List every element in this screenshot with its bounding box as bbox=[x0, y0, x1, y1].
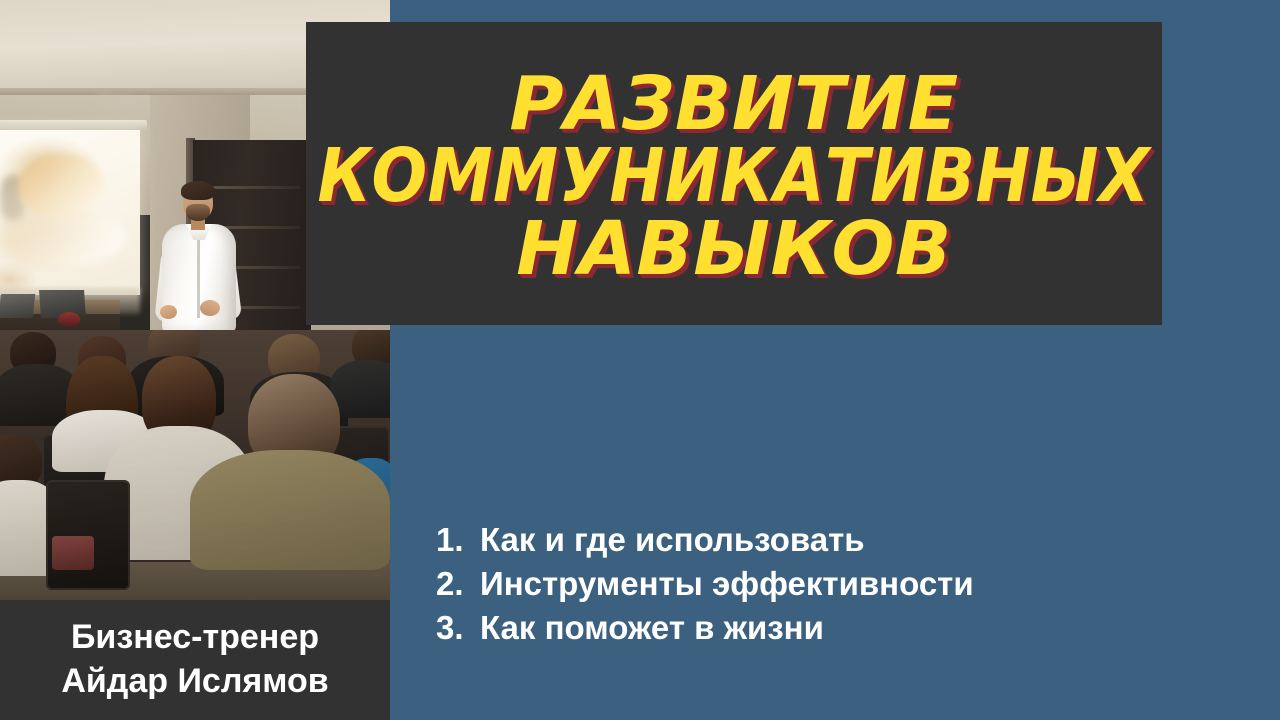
presenter-left-hand bbox=[160, 305, 177, 319]
presenter-hair bbox=[181, 181, 215, 200]
speaker-role: Бизнес-тренер bbox=[71, 616, 319, 660]
agenda-item: 3. Как поможет в жизни bbox=[436, 606, 1136, 650]
audience bbox=[0, 330, 390, 620]
presentation-slide: РАЗВИТИЕ КОММУНИКАТИВНЫХ НАВЫКОВ 1. Как … bbox=[0, 0, 1280, 720]
title-line-2: КОММУНИКАТИВНЫХ bbox=[318, 140, 1150, 213]
presenter-right-hand bbox=[200, 300, 220, 316]
agenda-item-number: 3. bbox=[436, 606, 480, 650]
agenda-item-number: 2. bbox=[436, 562, 480, 606]
laptop-icon bbox=[0, 294, 35, 318]
agenda-item: 1. Как и где использовать bbox=[436, 518, 1136, 562]
audience-shoulders bbox=[190, 450, 390, 570]
chair-cushion bbox=[52, 536, 94, 570]
title-line-1: РАЗВИТИЕ bbox=[509, 68, 958, 141]
door-panel-line bbox=[200, 186, 300, 189]
speaker-name: Айдар Ислямов bbox=[61, 660, 328, 704]
agenda-item: 2. Инструменты эффективности bbox=[436, 562, 1136, 606]
chair bbox=[46, 480, 130, 590]
title-line-3: НАВЫКОВ bbox=[516, 213, 952, 286]
title-panel: РАЗВИТИЕ КОММУНИКАТИВНЫХ НАВЫКОВ bbox=[306, 22, 1162, 325]
agenda-item-label: Как и где использовать bbox=[480, 518, 865, 562]
agenda-list: 1. Как и где использовать 2. Инструменты… bbox=[436, 518, 1136, 650]
agenda-item-label: Инструменты эффективности bbox=[480, 562, 974, 606]
agenda-item-label: Как поможет в жизни bbox=[480, 606, 824, 650]
speaker-panel: Бизнес-тренер Айдар Ислямов bbox=[0, 600, 390, 720]
agenda-item-number: 1. bbox=[436, 518, 480, 562]
presenter-beard bbox=[186, 204, 210, 221]
red-object bbox=[58, 312, 80, 326]
